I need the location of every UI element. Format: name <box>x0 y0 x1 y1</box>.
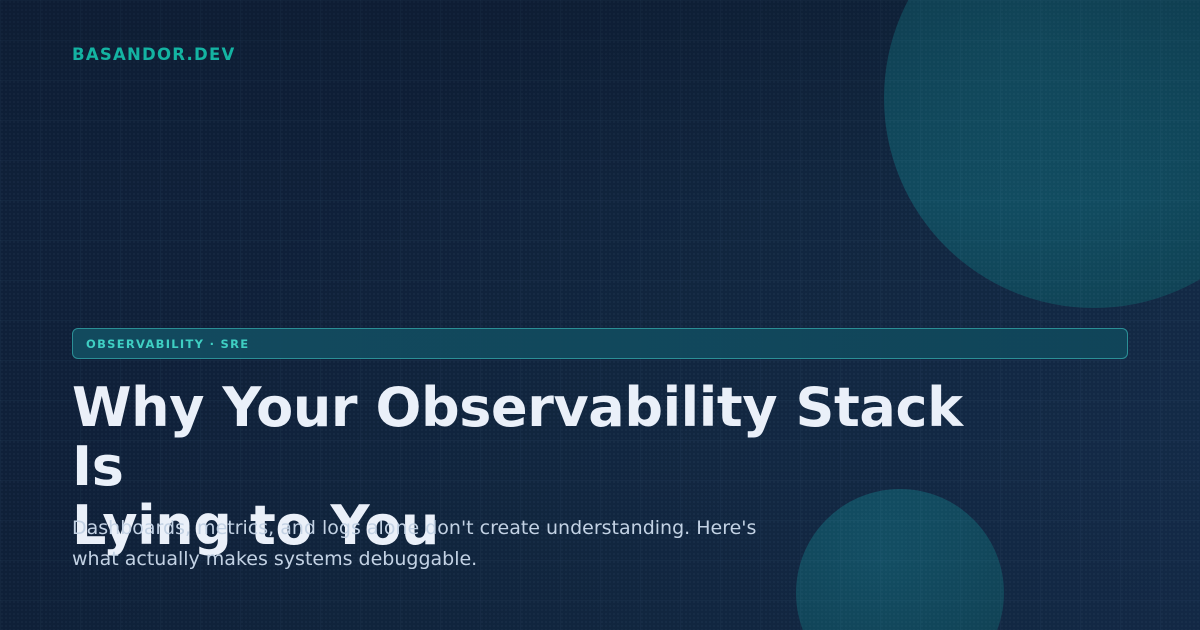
page-title-line-1: Why Your Observability Stack Is <box>72 379 972 497</box>
category-badge-label: OBSERVABILITY · SRE <box>86 337 249 351</box>
decorative-circle-top-right <box>884 0 1200 308</box>
page-subtitle: Dashboards, metrics, and logs alone don'… <box>72 513 772 575</box>
page-subtitle-line-2: actually makes systems debuggable. <box>125 548 477 570</box>
brand-wordmark[interactable]: BASANDOR.DEV <box>72 47 236 64</box>
category-badge: OBSERVABILITY · SRE <box>72 328 1128 359</box>
social-share-card: BASANDOR.DEV OBSERVABILITY · SRE Why You… <box>0 0 1200 630</box>
